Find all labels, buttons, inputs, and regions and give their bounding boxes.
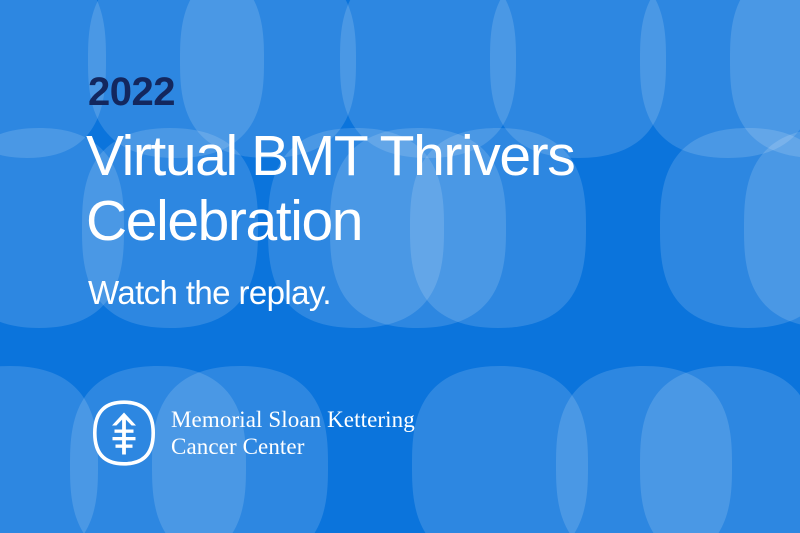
headline-line-1: Virtual BMT Thrivers	[86, 124, 574, 188]
msk-arrow-mark-icon	[91, 399, 157, 467]
msk-wordmark-line-1: Memorial Sloan Kettering	[171, 406, 415, 433]
msk-wordmark-line-2: Cancer Center	[171, 433, 415, 460]
banner-content: 2022 Virtual BMT Thrivers Celebration Wa…	[0, 0, 800, 533]
banner-year: 2022	[88, 72, 175, 112]
banner-headline: Virtual BMT Thrivers Celebration	[86, 124, 726, 254]
headline-line-2: Celebration	[86, 189, 362, 253]
msk-wordmark: Memorial Sloan Kettering Cancer Center	[171, 406, 415, 460]
banner-subhead: Watch the replay.	[88, 276, 331, 309]
promo-banner: 2022 Virtual BMT Thrivers Celebration Wa…	[0, 0, 800, 533]
msk-logo-lockup[interactable]: Memorial Sloan Kettering Cancer Center	[91, 399, 415, 467]
